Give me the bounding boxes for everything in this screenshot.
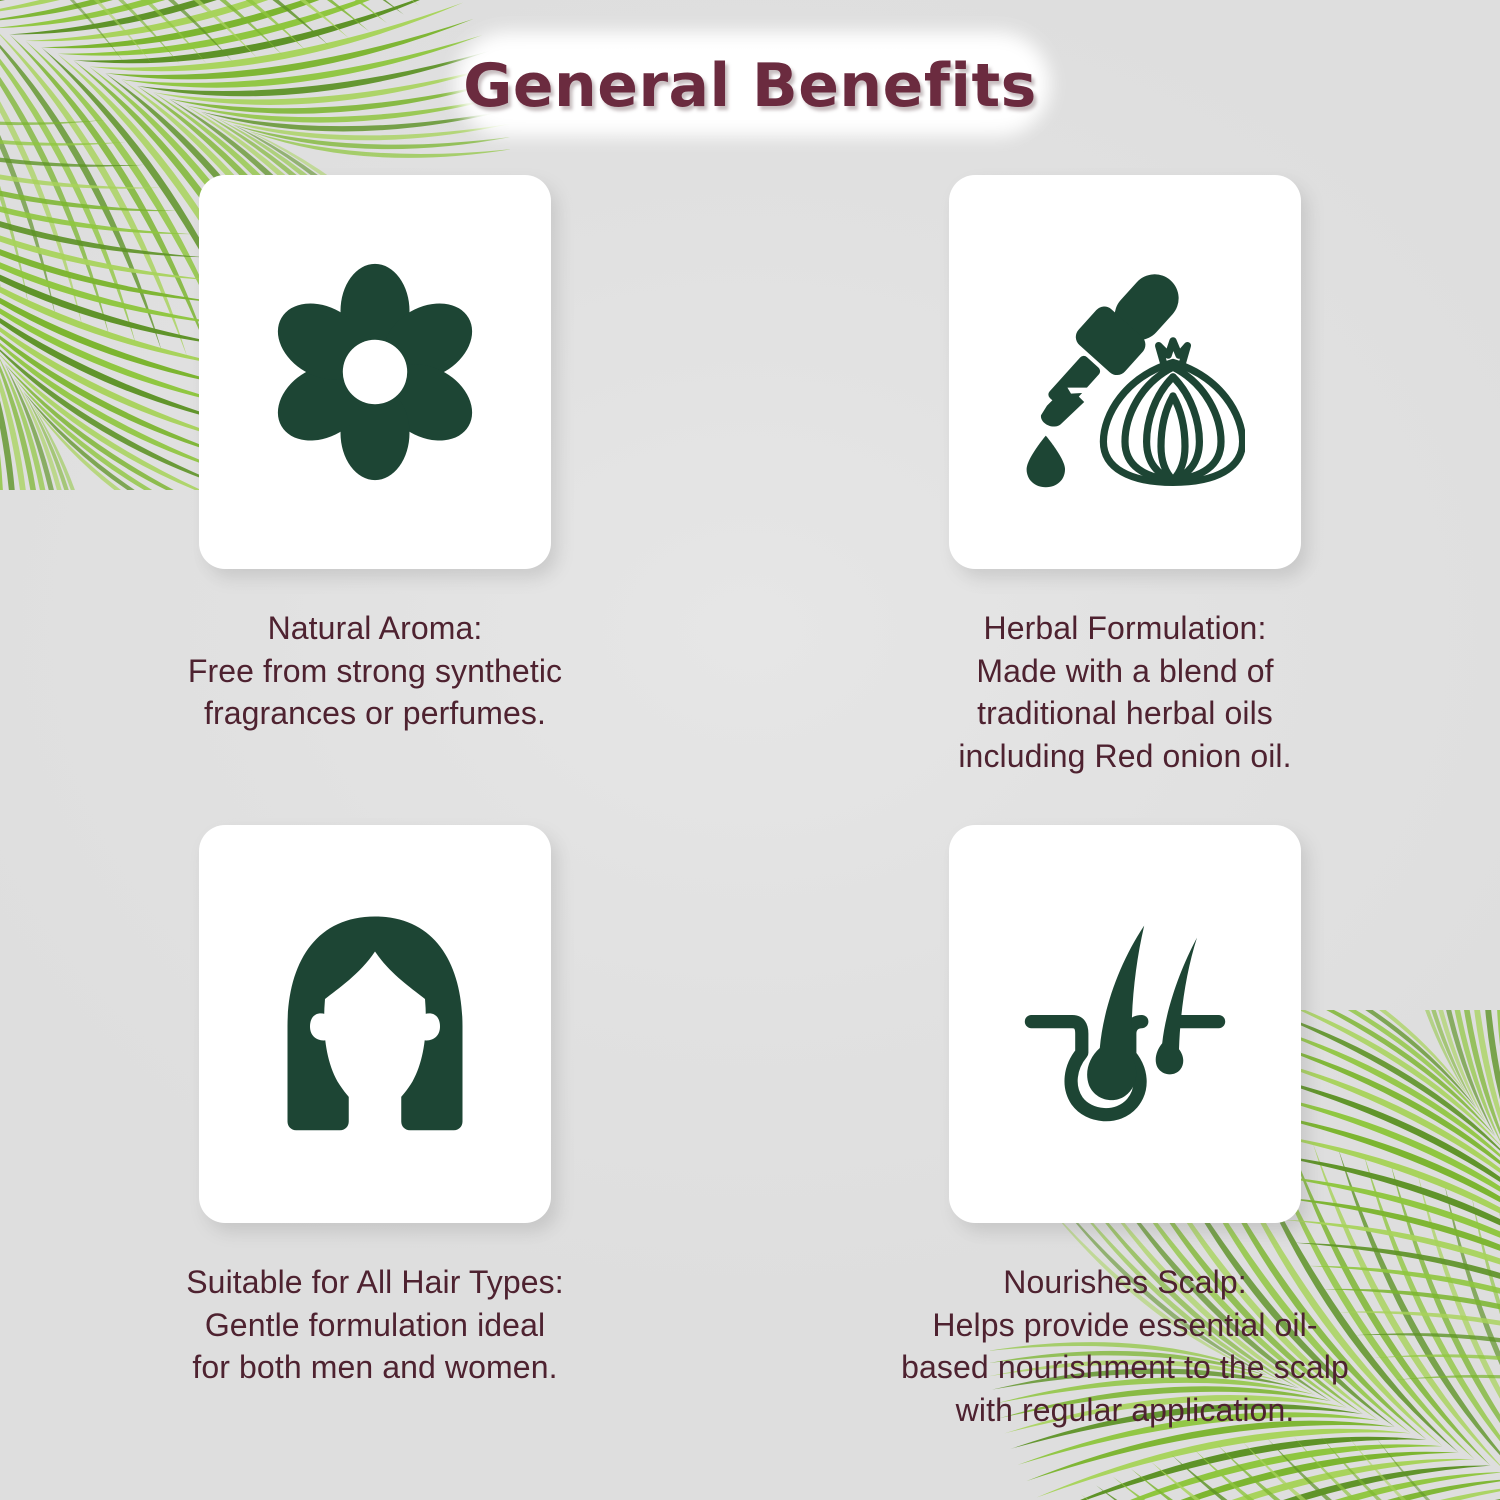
infographic-canvas: General Benefits xyxy=(0,0,1500,1500)
page-title: General Benefits xyxy=(463,51,1037,121)
benefit-card-natural-aroma xyxy=(199,175,551,569)
dropper-onion-icon xyxy=(975,222,1275,522)
benefit-card-nourishes-scalp xyxy=(949,825,1301,1223)
benefit-cell-nourishes-scalp: Nourishes Scalp: Helps provide essential… xyxy=(750,825,1500,1431)
benefit-card-all-hair-types xyxy=(199,825,551,1223)
page-title-wrap: General Benefits xyxy=(0,30,1500,142)
benefit-caption-all-hair-types: Suitable for All Hair Types: Gentle form… xyxy=(140,1261,610,1389)
hair-follicle-icon xyxy=(975,874,1275,1174)
benefit-caption-nourishes-scalp: Nourishes Scalp: Helps provide essential… xyxy=(865,1261,1385,1431)
benefits-row-2: Suitable for All Hair Types: Gentle form… xyxy=(0,825,1500,1431)
benefit-caption-natural-aroma: Natural Aroma: Free from strong syntheti… xyxy=(140,607,610,735)
benefit-cell-all-hair-types: Suitable for All Hair Types: Gentle form… xyxy=(0,825,750,1431)
benefits-row-1: Natural Aroma: Free from strong syntheti… xyxy=(0,175,1500,777)
benefit-caption-herbal-formulation: Herbal Formulation: Made with a blend of… xyxy=(890,607,1360,777)
benefit-cell-herbal-formulation: Herbal Formulation: Made with a blend of… xyxy=(750,175,1500,777)
benefits-grid: Natural Aroma: Free from strong syntheti… xyxy=(0,175,1500,1431)
woman-hair-icon xyxy=(225,874,525,1174)
flower-icon xyxy=(225,222,525,522)
benefit-card-herbal-formulation xyxy=(949,175,1301,569)
benefit-cell-natural-aroma: Natural Aroma: Free from strong syntheti… xyxy=(0,175,750,777)
